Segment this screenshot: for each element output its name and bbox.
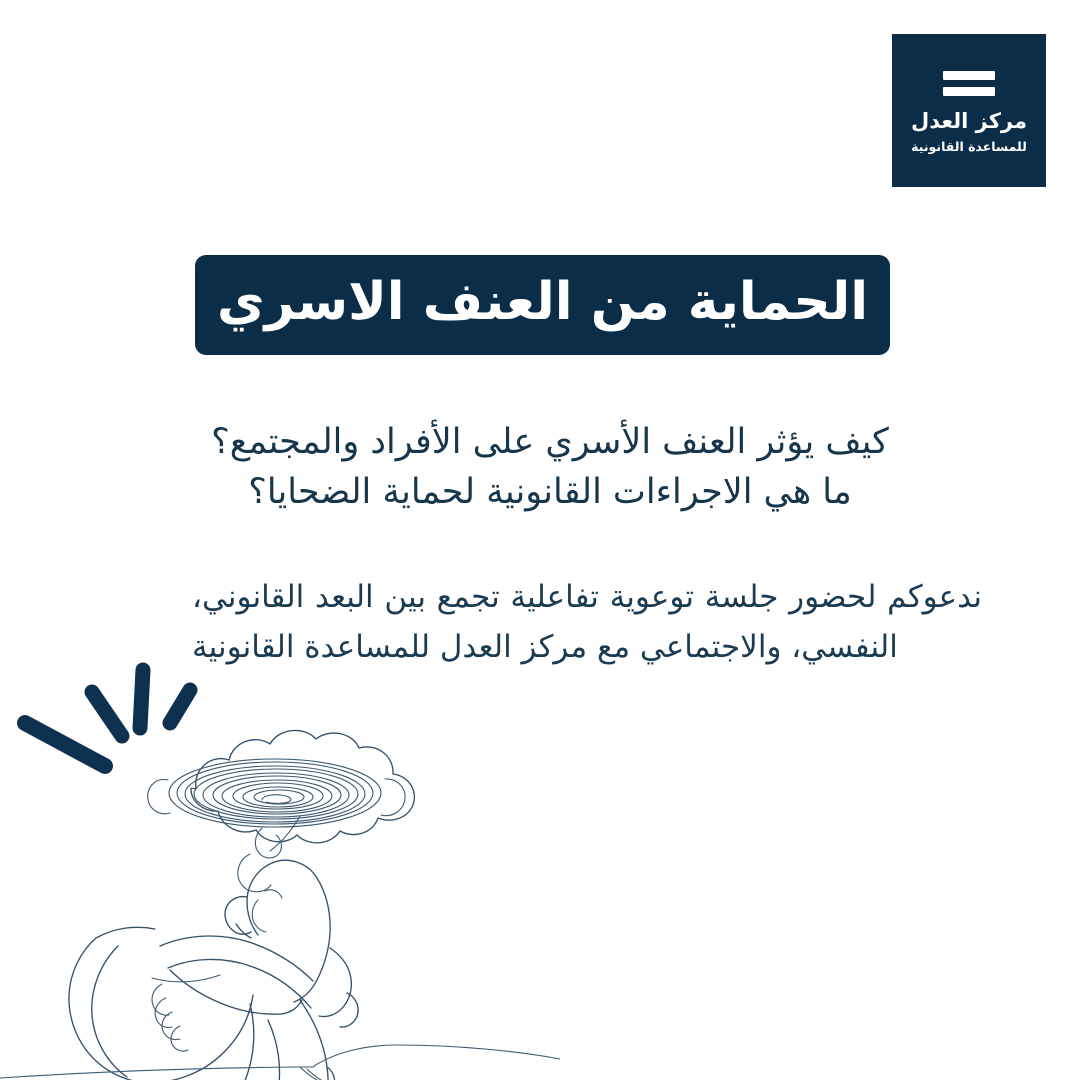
brand-logo: مركز العدل للمساعدة القانونية	[892, 34, 1046, 187]
person-figure	[69, 860, 358, 1080]
equals-sign-icon	[943, 71, 995, 96]
question-block: كيف يؤثر العنف الأسري على الأفراد والمجت…	[120, 418, 980, 517]
seated-person-illustration	[0, 648, 560, 1080]
spark-burst-icon	[25, 670, 190, 766]
poster-canvas: مركز العدل للمساعدة القانونية الحماية من…	[0, 0, 1080, 1080]
question-line-1: كيف يؤثر العنف الأسري على الأفراد والمجت…	[120, 418, 980, 468]
title-banner: الحماية من العنف الاسري	[195, 255, 890, 355]
thought-cloud-icon	[148, 730, 415, 851]
question-line-2: ما هي الاجراءات القانونية لحماية الضحايا…	[120, 468, 980, 518]
cloud-stem	[255, 828, 281, 858]
ground-line	[0, 1045, 560, 1080]
logo-subtitle: للمساعدة القانونية	[911, 139, 1027, 154]
body-paragraph: ندعوكم لحضور جلسة توعوية تفاعلية تجمع بي…	[192, 572, 982, 672]
page-title: الحماية من العنف الاسري	[217, 276, 868, 334]
logo-name: مركز العدل	[911, 109, 1027, 134]
